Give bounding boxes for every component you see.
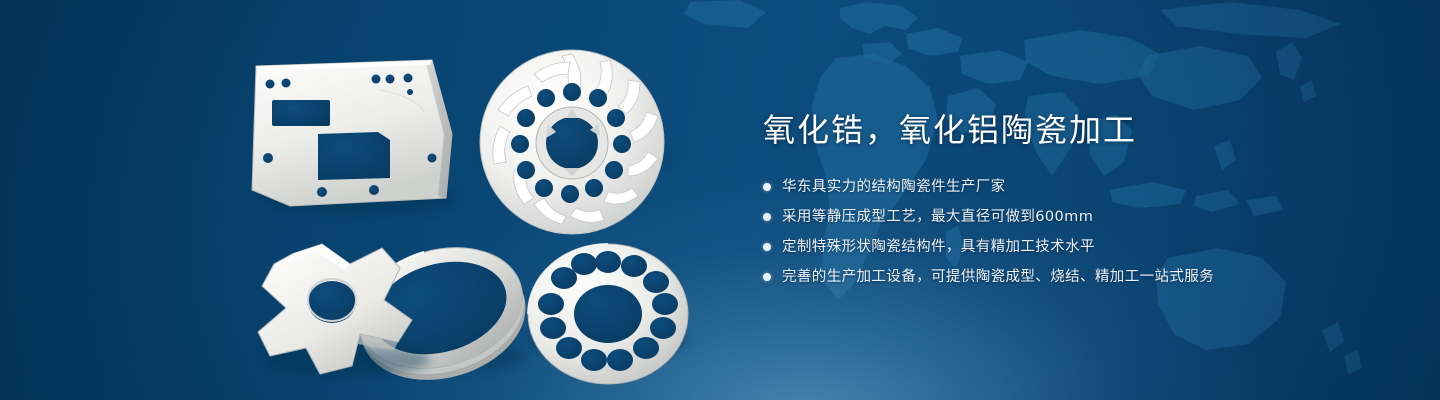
bullet-dot-icon xyxy=(763,183,771,191)
hero-banner: 氧化锆，氧化铝陶瓷加工 华东具实力的结构陶瓷件生产厂家 采用等静压成型工艺，最大… xyxy=(0,0,1440,400)
list-item: 定制特殊形状陶瓷结构件，具有精加工技术水平 xyxy=(763,236,1303,258)
list-item: 华东具实力的结构陶瓷件生产厂家 xyxy=(763,176,1303,198)
ceramic-mounting-plate-graphic xyxy=(252,60,456,214)
ceramic-vane-impeller-graphic xyxy=(480,50,664,234)
page-title: 氧化锆，氧化铝陶瓷加工 xyxy=(763,108,1303,152)
list-item-label: 华东具实力的结构陶瓷件生产厂家 xyxy=(782,176,1006,198)
list-item-label: 定制特殊形状陶瓷结构件，具有精加工技术水平 xyxy=(782,236,1095,258)
bullet-dot-icon xyxy=(763,213,771,221)
bullet-dot-icon xyxy=(763,243,771,251)
feature-list: 华东具实力的结构陶瓷件生产厂家 采用等静压成型工艺，最大直径可做到600mm 定… xyxy=(763,176,1303,288)
ceramic-perforated-disc-graphic xyxy=(528,244,688,384)
ceramic-products-collage xyxy=(238,38,708,390)
list-item: 完善的生产加工设备，可提供陶瓷成型、烧结、精加工一站式服务 xyxy=(763,266,1303,288)
list-item: 采用等静压成型工艺，最大直径可做到600mm xyxy=(763,206,1303,228)
list-item-label: 采用等静压成型工艺，最大直径可做到600mm xyxy=(782,206,1093,228)
banner-copy: 氧化锆，氧化铝陶瓷加工 华东具实力的结构陶瓷件生产厂家 采用等静压成型工艺，最大… xyxy=(763,108,1303,288)
list-item-label: 完善的生产加工设备，可提供陶瓷成型、烧结、精加工一站式服务 xyxy=(782,266,1214,288)
bullet-dot-icon xyxy=(763,273,771,281)
